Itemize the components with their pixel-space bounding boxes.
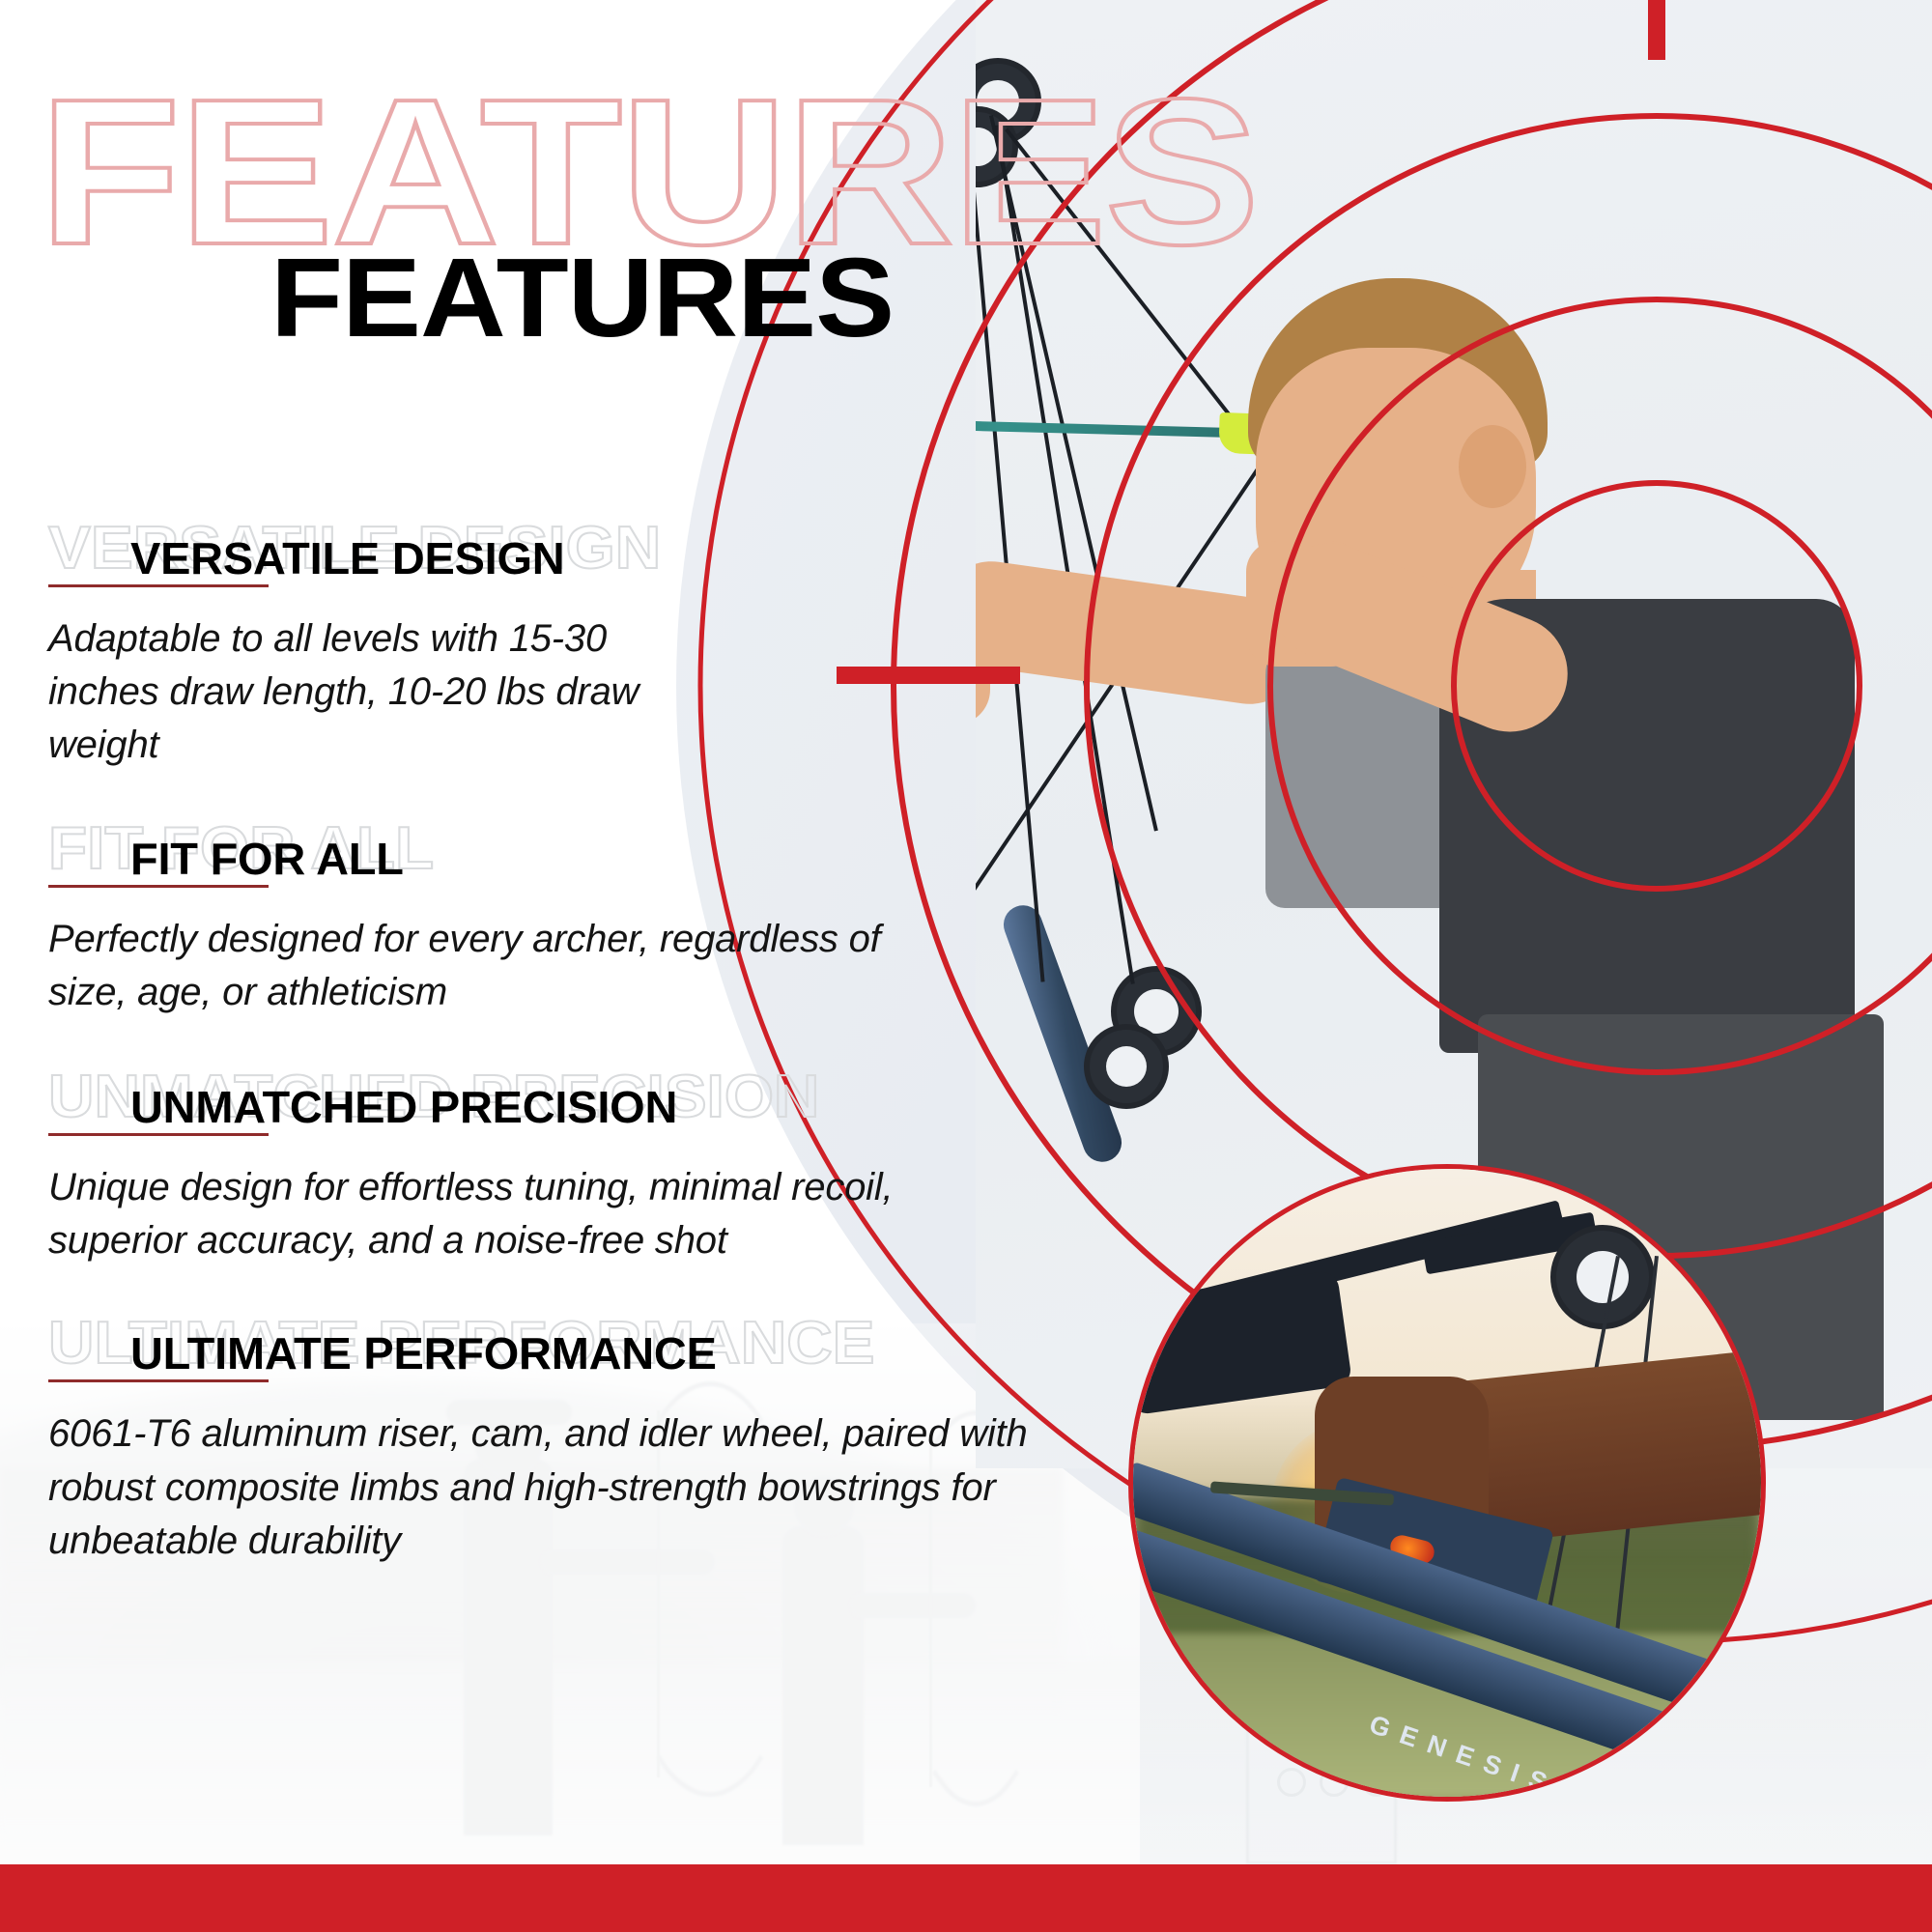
target-tick-vertical bbox=[1648, 0, 1665, 60]
feature-underline bbox=[48, 885, 269, 888]
feature-heading: ULTIMATE PERFORMANCE bbox=[130, 1331, 717, 1376]
feature-body: Perfectly designed for every archer, reg… bbox=[48, 913, 898, 1019]
feature-underline bbox=[48, 1133, 269, 1136]
feature-item-versatile-design: VERSATILE DESIGN VERSATILE DESIGN Adapta… bbox=[48, 526, 1140, 773]
feature-body: Adaptable to all levels with 15-30 inche… bbox=[48, 612, 705, 773]
feature-body: 6061-T6 aluminum riser, cam, and idler w… bbox=[48, 1407, 1087, 1568]
page-title: FEATURES bbox=[270, 241, 894, 354]
feature-underline bbox=[48, 584, 269, 587]
inset-idler-wheel bbox=[1550, 1225, 1655, 1329]
target-ring-1 bbox=[1454, 483, 1860, 889]
feature-underline bbox=[48, 1379, 269, 1382]
feature-heading: VERSATILE DESIGN bbox=[130, 536, 565, 581]
target-ring-2 bbox=[1270, 299, 1932, 1072]
features-list: VERSATILE DESIGN VERSATILE DESIGN Adapta… bbox=[48, 526, 1140, 1614]
feature-body: Unique design for effortless tuning, min… bbox=[48, 1161, 966, 1267]
bow-closeup-inset: GENESIS ARCH GENESIS AR bbox=[1128, 1164, 1766, 1802]
feature-heading: FIT FOR ALL bbox=[130, 837, 404, 881]
page-title-block: FEATURES FEATURES bbox=[0, 68, 1449, 319]
feature-item-ultimate-performance: ULTIMATE PERFORMANCE ULTIMATE PERFORMANC… bbox=[48, 1321, 1140, 1568]
feature-heading: UNMATCHED PRECISION bbox=[130, 1085, 677, 1129]
feature-poster: Hurricane bbox=[0, 0, 1932, 1932]
feature-item-fit-for-all: FIT FOR ALL FIT FOR ALL Perfectly design… bbox=[48, 827, 1140, 1019]
feature-item-unmatched-precision: UNMATCHED PRECISION UNMATCHED PRECISION … bbox=[48, 1075, 1140, 1267]
bottom-red-bar bbox=[0, 1864, 1932, 1932]
